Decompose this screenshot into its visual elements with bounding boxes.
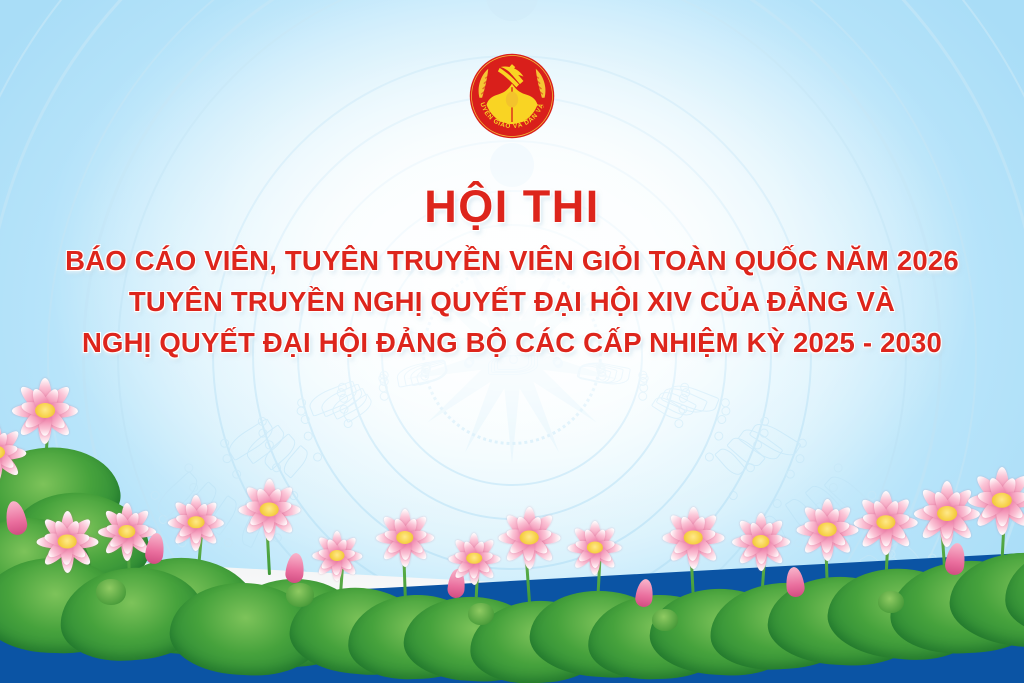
- subtitle-line-1: BÁO CÁO VIÊN, TUYÊN TRUYỀN VIÊN GIỎI TOÀ…: [0, 240, 1024, 281]
- lotus-petal: [40, 383, 73, 416]
- lotus-petal: [997, 472, 1024, 506]
- tuyen-giao-va-dan-van-emblem: TUYÊN GIÁO VÀ DÂN VẬN: [468, 52, 556, 140]
- lotus-petal: [17, 383, 50, 416]
- lotus-center: [992, 493, 1012, 508]
- lotus-petal: [0, 447, 26, 460]
- lotus-petal: [264, 483, 295, 514]
- lotus-petal: [20, 399, 47, 417]
- lotus-petal: [0, 453, 2, 483]
- lotus-flower: [0, 423, 26, 483]
- lotus-petal: [0, 431, 1, 456]
- lotus-petal: [0, 431, 11, 456]
- lotus-petal: [254, 487, 274, 513]
- lotus-petal: [940, 481, 954, 514]
- lotus-petal: [39, 386, 61, 413]
- lotus-petal: [0, 453, 2, 475]
- lotus-petal: [0, 449, 22, 479]
- lotus-petal: [1002, 494, 1024, 508]
- subtitle-line-3: NGHỊ QUYẾT ĐẠI HỘI ĐẢNG BỘ CÁC CẤP NHIỆM…: [0, 322, 1024, 363]
- lotus-petal: [40, 406, 73, 439]
- lotus-petal: [39, 411, 52, 435]
- lotus-petal: [968, 494, 1002, 508]
- lotus-petal: [995, 467, 1009, 501]
- lotus-center: [0, 446, 5, 459]
- subtitle-line-2: TUYÊN TRUYỀN NGHỊ QUYẾT ĐẠI HỘI XIV CỦA …: [0, 281, 1024, 322]
- lotus-petal: [17, 406, 50, 439]
- lotus-petal: [973, 472, 1007, 506]
- lotus-flower: [12, 378, 78, 444]
- lotus-petal: [38, 411, 52, 444]
- lotus-petal: [264, 487, 285, 513]
- lotus-petal: [38, 378, 52, 411]
- lotus-petal: [996, 476, 1019, 504]
- title-block: HỘI THI BÁO CÁO VIÊN, TUYÊN TRUYỀN VIÊN …: [0, 182, 1024, 363]
- lotus-petal: [1001, 489, 1024, 507]
- lotus-petal: [12, 404, 45, 418]
- lotus-petal: [985, 476, 1007, 504]
- lotus-petal: [44, 400, 71, 418]
- lotus-stem: [44, 403, 51, 463]
- lotus-petal: [0, 449, 17, 472]
- lotus-petal: [29, 386, 51, 413]
- presentation-slide: TUYÊN GIÁO VÀ DÂN VẬN HỘI THI BÁO CÁO VI…: [0, 0, 1024, 683]
- lotus-petal: [0, 423, 2, 453]
- page-number: 1: [960, 604, 974, 635]
- lotus-petal: [22, 406, 49, 431]
- lotus-petal: [45, 404, 78, 418]
- lotus-petal: [0, 427, 22, 457]
- lotus-petal: [976, 489, 1003, 507]
- lotus-petal: [0, 443, 19, 459]
- lotus-petal: [41, 406, 68, 431]
- bottom-ribbons: [0, 513, 1024, 683]
- lotus-center: [35, 403, 55, 418]
- lotus-petal: [263, 479, 276, 510]
- lotus-petal: [242, 483, 273, 514]
- page-title: HỘI THI: [0, 182, 1024, 232]
